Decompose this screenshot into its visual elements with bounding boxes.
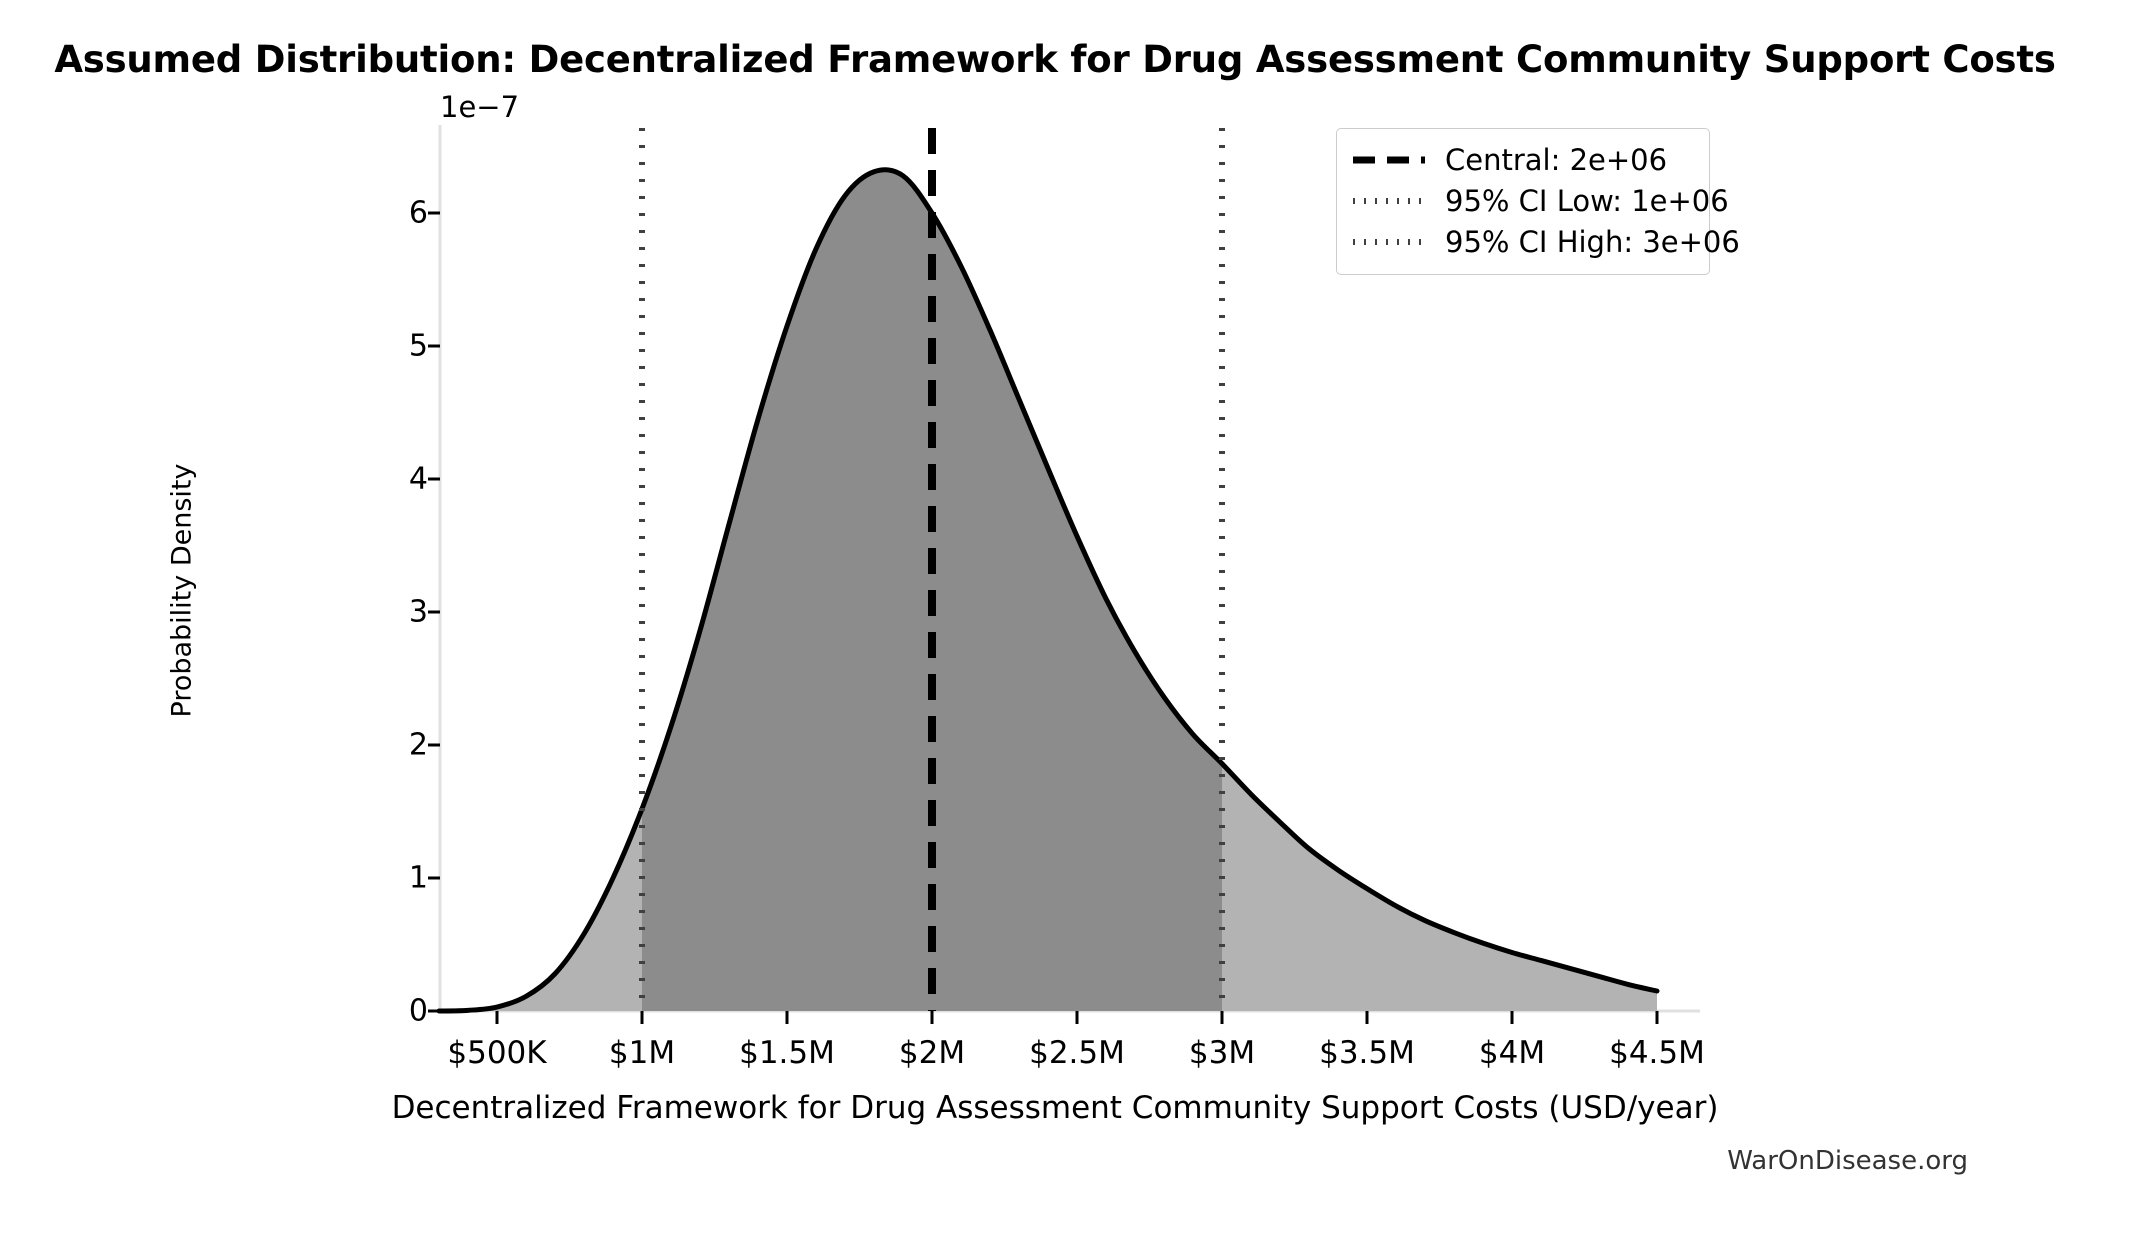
legend-label-central: Central: 2e+06 bbox=[1445, 143, 1667, 177]
plot-area bbox=[0, 0, 2154, 1234]
legend-item-ci-low: 95% CI Low: 1e+06 bbox=[1351, 180, 1695, 221]
legend-label-ci-high: 95% CI High: 3e+06 bbox=[1445, 225, 1740, 259]
legend-item-central: Central: 2e+06 bbox=[1351, 139, 1695, 180]
dashed-line-swatch-icon bbox=[1351, 150, 1427, 170]
dotted-line-swatch-icon bbox=[1351, 191, 1427, 211]
x-axis-ticks bbox=[497, 1011, 1657, 1024]
legend-item-ci-high: 95% CI High: 3e+06 bbox=[1351, 221, 1695, 262]
legend-label-ci-low: 95% CI Low: 1e+06 bbox=[1445, 184, 1729, 218]
chart-figure: Assumed Distribution: Decentralized Fram… bbox=[0, 0, 2154, 1234]
y-axis-ticks bbox=[428, 213, 440, 1011]
dotted-line-swatch-icon bbox=[1351, 232, 1427, 252]
legend: Central: 2e+06 95% CI Low: 1e+06 95% CI … bbox=[1336, 128, 1710, 275]
